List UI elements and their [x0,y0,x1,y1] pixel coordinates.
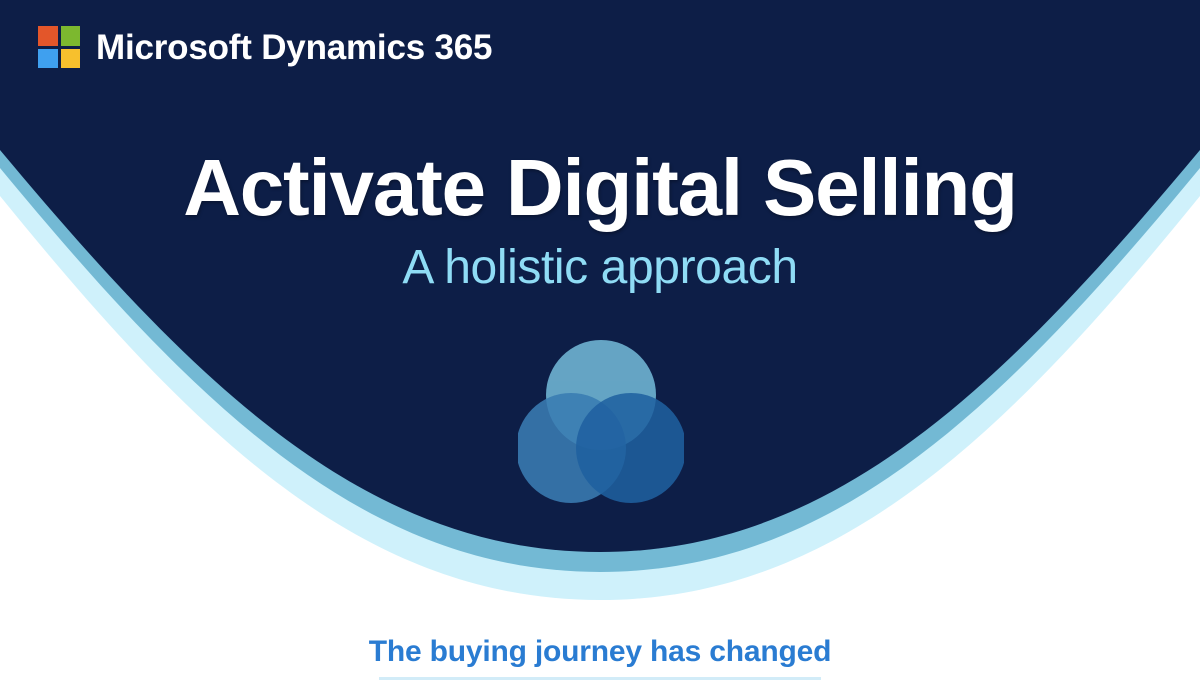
logo-square-top-right [61,26,81,46]
slide-canvas: Microsoft Dynamics 365 Activate Digital … [0,0,1200,695]
caption-text: The buying journey has changed [369,636,831,668]
page-subtitle: A holistic approach [0,244,1200,292]
microsoft-logo-icon [38,26,80,68]
venn-circle-right [576,393,684,503]
headline-block: Activate Digital Selling A holistic appr… [0,148,1200,292]
brand-name: Microsoft Dynamics 365 [96,30,492,65]
brand-lockup: Microsoft Dynamics 365 [38,26,492,68]
logo-square-top-left [38,26,58,46]
footer-caption: The buying journey has changed [0,636,1200,680]
page-title: Activate Digital Selling [0,148,1200,228]
logo-square-bottom-right [61,49,81,69]
logo-square-bottom-left [38,49,58,69]
three-overlapping-circles-icon [518,338,684,504]
caption-underline [379,677,821,680]
